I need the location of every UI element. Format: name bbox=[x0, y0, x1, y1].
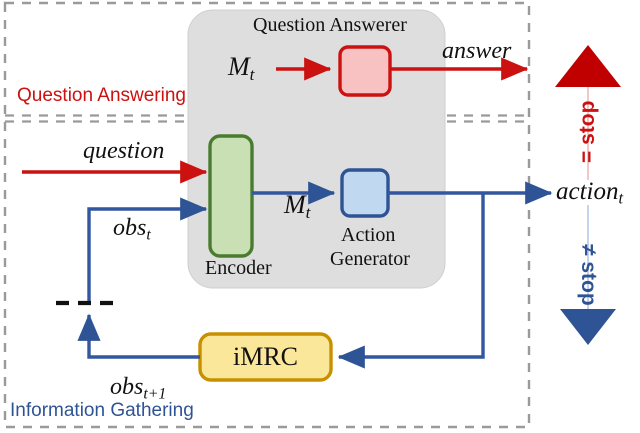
diagram-canvas: answerer box --> bbox=[0, 0, 640, 433]
question-answerer-box bbox=[340, 47, 390, 95]
encoder-box bbox=[210, 136, 252, 256]
question-label: question bbox=[83, 138, 164, 165]
section-label-question-answering: Question Answering bbox=[17, 85, 186, 107]
not-stop-down-triangle bbox=[560, 309, 616, 345]
encoder-label: Encoder bbox=[205, 257, 272, 280]
not-equals-stop-label: ≠ stop bbox=[576, 244, 600, 296]
action-generator-box bbox=[342, 170, 388, 216]
section-label-information-gathering: Information Gathering bbox=[10, 400, 194, 422]
panel-title: Question Answerer bbox=[253, 14, 407, 37]
stop-up-triangle bbox=[555, 45, 621, 87]
obs-t-plus-1-label: obst+1 bbox=[110, 374, 166, 403]
answer-label: answer bbox=[442, 38, 511, 65]
action-generator-label-2: Generator bbox=[330, 248, 402, 271]
m-t-top-label: Mt bbox=[228, 52, 254, 85]
m-t-middle-label: Mt bbox=[284, 190, 310, 223]
equals-stop-label: = stop bbox=[576, 111, 600, 163]
action-generator-label: Action bbox=[341, 224, 389, 247]
imrc-to-obs-arrow bbox=[89, 315, 200, 357]
imrc-label: iMRC bbox=[200, 342, 331, 372]
obs-t-label: obst bbox=[113, 215, 151, 244]
action-t-label: actiont bbox=[556, 178, 623, 209]
